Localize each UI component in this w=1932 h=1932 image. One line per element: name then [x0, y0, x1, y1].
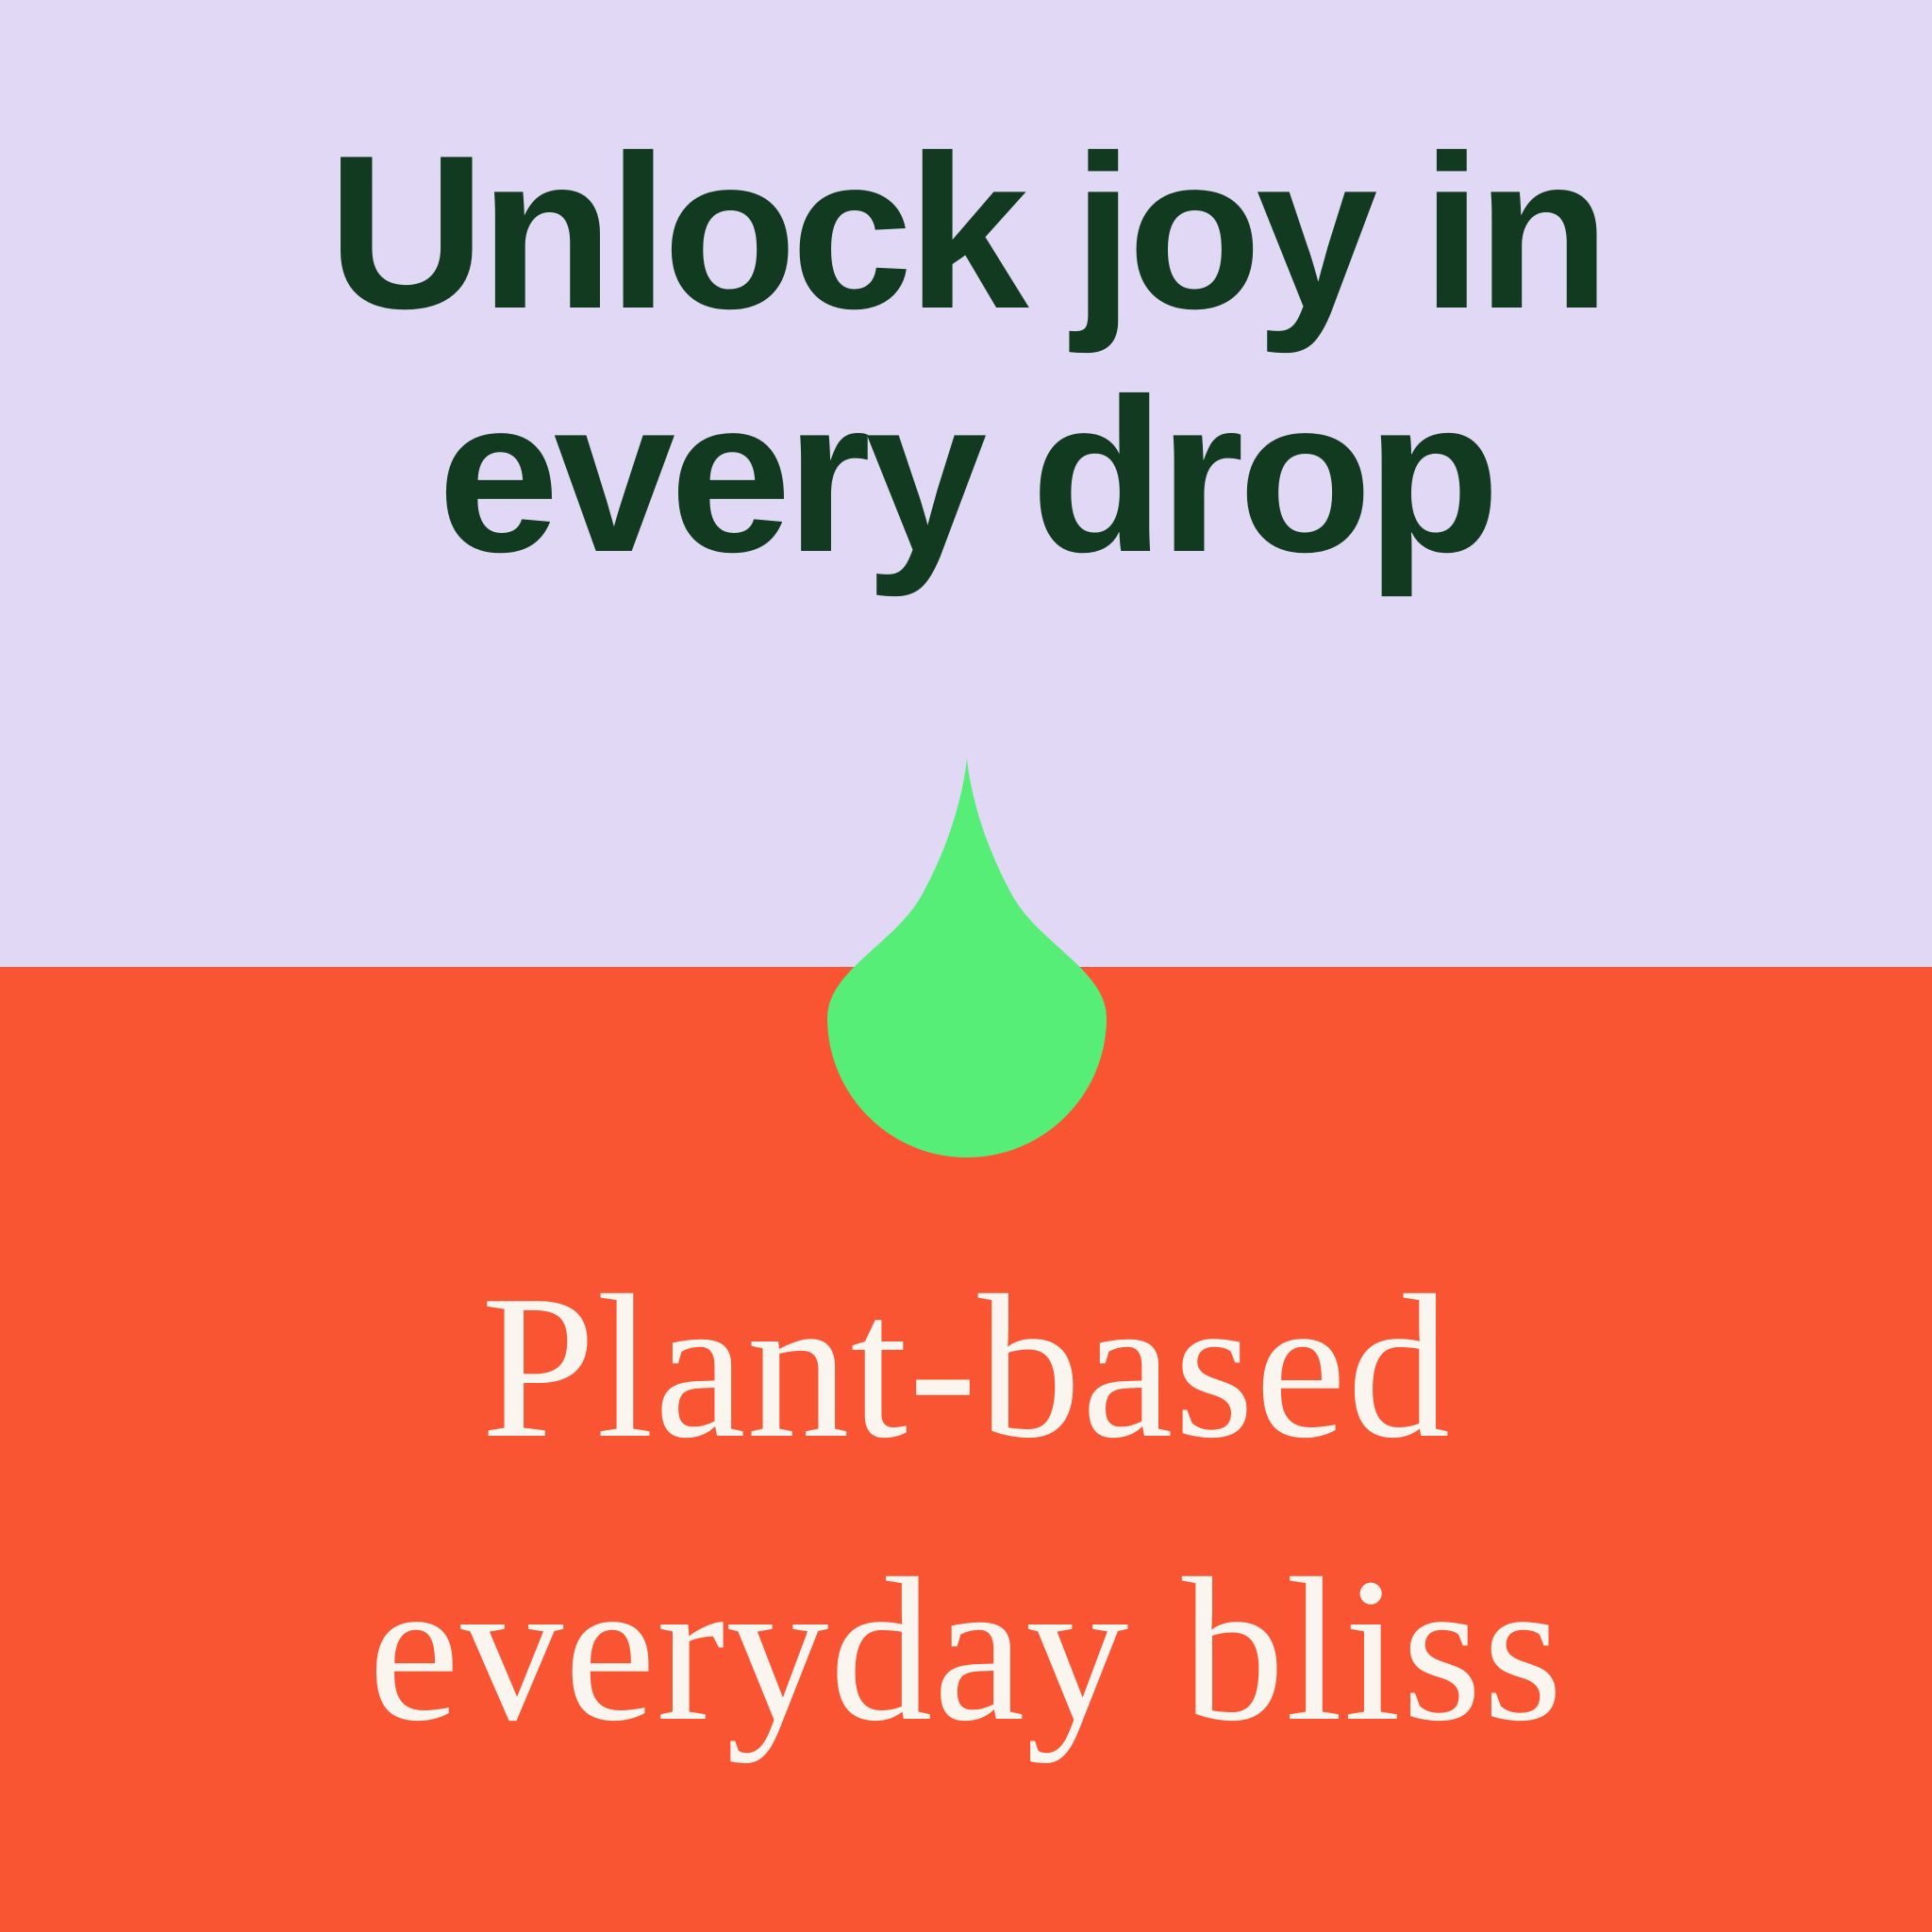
water-drop-icon: [827, 758, 1107, 1158]
subhead-line-1: Plant-based: [0, 1226, 1932, 1509]
subhead: Plant-based everyday bliss: [0, 1226, 1932, 1792]
poster-canvas: Unlock joy in every drop Plant-based eve…: [0, 0, 1932, 1932]
headline-line-2: every drop: [0, 355, 1932, 598]
droplet-graphic: [827, 758, 1107, 1158]
headline: Unlock joy in every drop: [0, 111, 1932, 598]
subhead-line-2: everyday bliss: [0, 1509, 1932, 1792]
headline-line-1: Unlock joy in: [0, 111, 1932, 355]
